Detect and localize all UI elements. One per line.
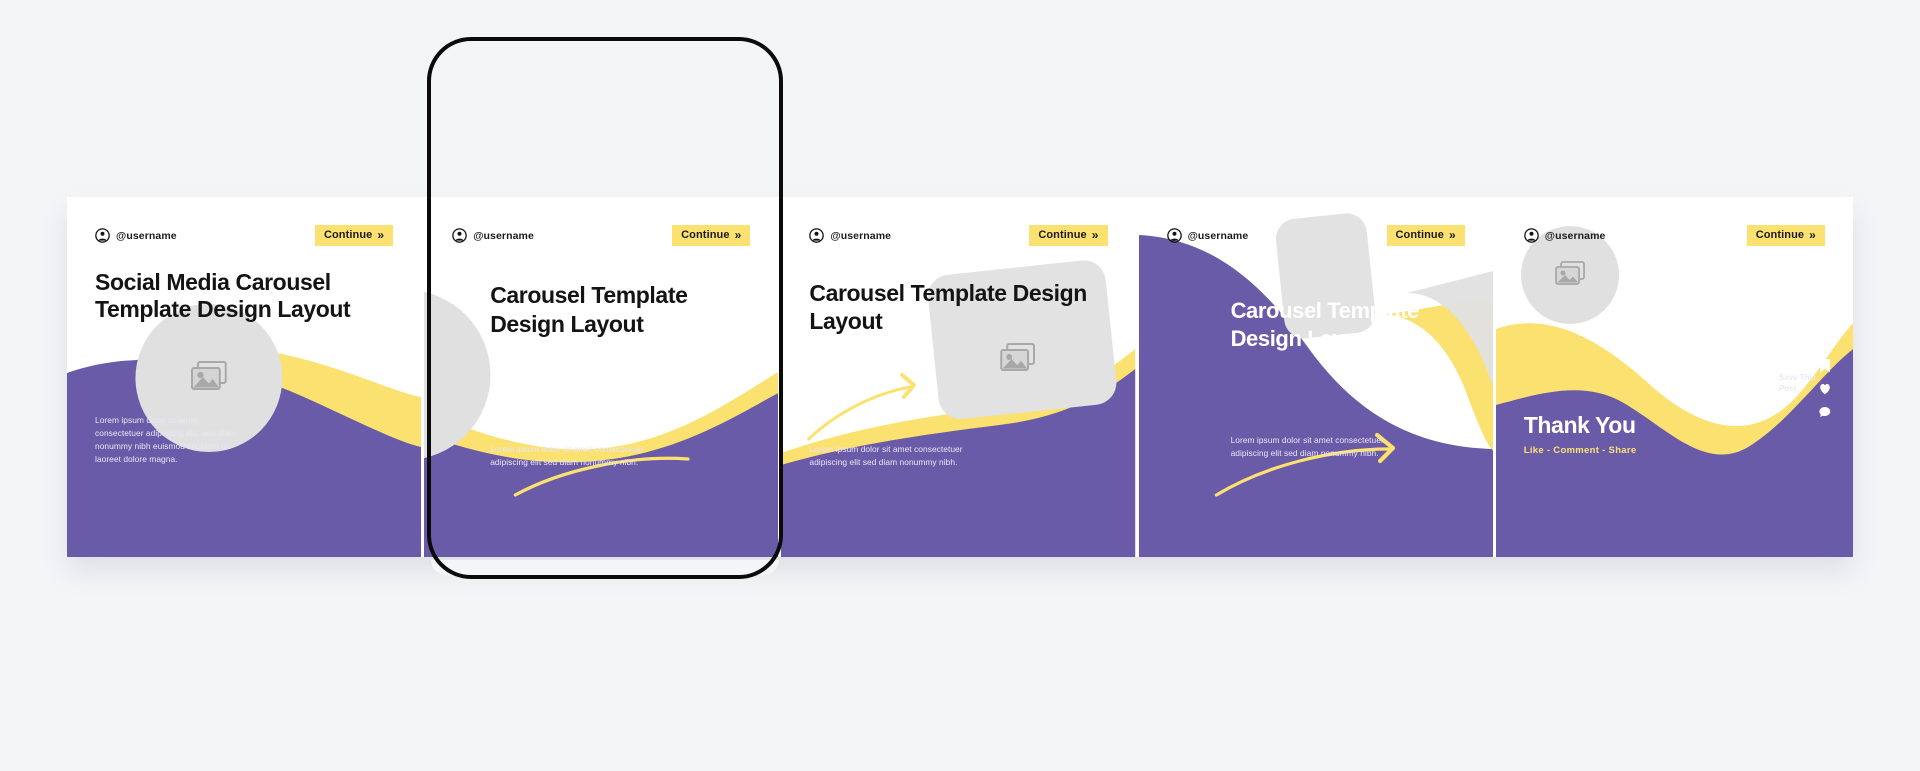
slide-4-background-art	[1139, 197, 1493, 557]
slide-2-title: Carousel Template Design Layout	[490, 281, 740, 339]
slide-5-save-text: Save This Post	[1779, 373, 1831, 395]
slide-3-continue-button[interactable]: Continue »	[1029, 225, 1107, 246]
slide-5-user-badge[interactable]: @username	[1524, 228, 1606, 243]
slide-2-username: @username	[473, 230, 534, 242]
slide-5-header: @username Continue »	[1496, 225, 1853, 246]
continue-label: Continue	[1396, 230, 1444, 241]
slide-3-background-art	[781, 197, 1135, 557]
double-chevron-right-icon: »	[1809, 229, 1816, 241]
continue-label: Continue	[1756, 230, 1804, 241]
slide-4-header: @username Continue »	[1139, 225, 1493, 246]
slide-4-body: Lorem ipsum dolor sit amet consectetuer …	[1231, 434, 1386, 460]
slide-3-body: Lorem ipsum dolor sit amet consectetuer …	[809, 443, 999, 469]
user-avatar-icon	[1167, 228, 1182, 243]
double-chevron-right-icon: »	[735, 229, 742, 241]
continue-label: Continue	[324, 230, 372, 241]
slide-3-title: Carousel Template Design Layout	[809, 279, 1109, 335]
slide-4-username: @username	[1188, 230, 1249, 242]
slide-1-background-art	[67, 197, 421, 557]
user-avatar-icon	[452, 228, 467, 243]
double-chevron-right-icon: »	[1449, 229, 1456, 241]
slide-2-body: Lorem ipsum dolor sit amet consectetuer …	[490, 443, 680, 469]
carousel-strip: @username Continue » Social Media Carous…	[67, 197, 1853, 557]
slide-2-user-badge[interactable]: @username	[452, 228, 534, 243]
slide-3-username: @username	[830, 230, 891, 242]
slide-1-title: Social Media Carousel Template Design La…	[95, 269, 395, 323]
phone-frame-top-fill	[431, 41, 779, 191]
continue-label: Continue	[681, 230, 729, 241]
continue-label: Continue	[1038, 230, 1086, 241]
slide-4-user-badge[interactable]: @username	[1167, 228, 1249, 243]
slide-5-title: Thank You	[1524, 412, 1744, 439]
double-chevron-right-icon: »	[377, 229, 384, 241]
slide-3-header: @username Continue »	[781, 225, 1135, 246]
user-avatar-icon	[1524, 228, 1539, 243]
slide-1-user-badge[interactable]: @username	[95, 228, 177, 243]
slide-2-continue-button[interactable]: Continue »	[672, 225, 750, 246]
slide-1-header: @username Continue »	[67, 225, 421, 246]
carousel-slide-3[interactable]: @username Continue » Carousel Template D…	[781, 197, 1138, 557]
carousel-slide-1[interactable]: @username Continue » Social Media Carous…	[67, 197, 424, 557]
carousel-slide-5[interactable]: @username Continue » Save This Post	[1496, 197, 1853, 557]
slide-5-subtitle: Like - Comment - Share	[1524, 445, 1637, 456]
phone-frame-bottom-fill	[431, 560, 779, 575]
user-avatar-icon	[809, 228, 824, 243]
slide-1-username: @username	[116, 230, 177, 242]
user-avatar-icon	[95, 228, 110, 243]
slide-5-username: @username	[1545, 230, 1606, 242]
slide-2-header: @username Continue »	[424, 225, 778, 246]
comment-icon[interactable]	[1819, 405, 1831, 419]
double-chevron-right-icon: »	[1092, 229, 1099, 241]
slide-1-continue-button[interactable]: Continue »	[315, 225, 393, 246]
bookmark-icon[interactable]	[1819, 359, 1831, 373]
slide-5-continue-button[interactable]: Continue »	[1747, 225, 1825, 246]
carousel-slide-2[interactable]: @username Continue » Carousel Template D…	[424, 197, 781, 557]
slide-4-title: Carousel Template Design Layout	[1231, 297, 1431, 353]
carousel-slide-4[interactable]: @username Continue » Carousel Template D…	[1139, 197, 1496, 557]
slide-4-continue-button[interactable]: Continue »	[1387, 225, 1465, 246]
slide-1-body: Lorem ipsum dolor sit amet consectetuer …	[95, 414, 240, 466]
slide-3-user-badge[interactable]: @username	[809, 228, 891, 243]
carousel-mockup-canvas: @username Continue » Social Media Carous…	[0, 0, 1920, 771]
slide-2-background-art	[424, 197, 778, 557]
